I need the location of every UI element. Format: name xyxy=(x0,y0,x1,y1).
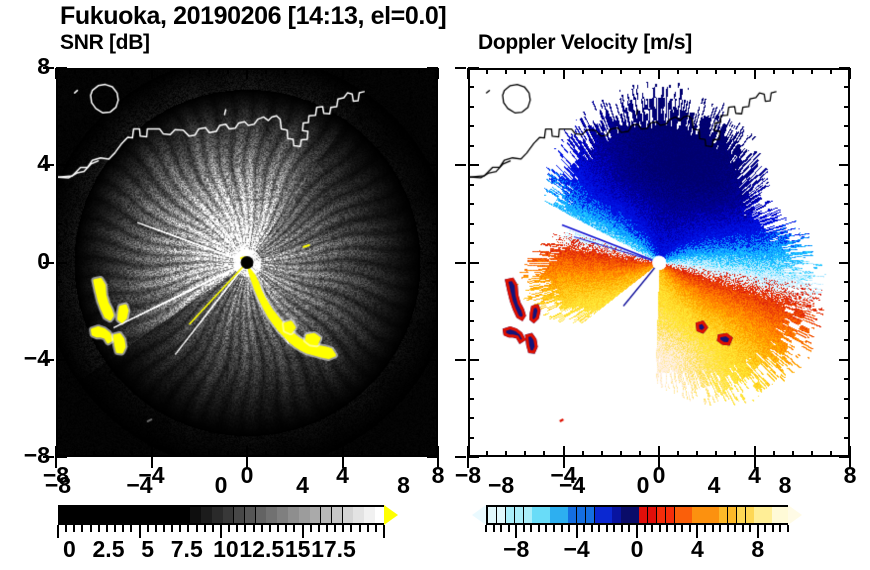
y-tick-left xyxy=(56,359,67,361)
y-tick-right xyxy=(839,456,850,458)
y-tick-left xyxy=(56,378,62,380)
colorbar-minor-tick xyxy=(155,525,157,532)
colorbar-minor-tick xyxy=(666,525,668,532)
y-tick-left xyxy=(56,437,62,439)
x-tick-bottom xyxy=(322,451,324,457)
colorbar-minor-tick xyxy=(334,525,336,532)
colorbar-minor-tick xyxy=(621,525,623,532)
colorbar-minor-tick xyxy=(742,525,744,532)
colorbar-cell xyxy=(288,507,299,523)
y-tick-right xyxy=(432,398,438,400)
x-tick-bottom xyxy=(734,451,736,457)
y-tick-left-outer xyxy=(455,359,466,361)
colorbar-gradient xyxy=(58,505,384,525)
colorbar-minor-tick xyxy=(659,525,661,532)
y-tick-left xyxy=(468,106,474,108)
x-tick-top xyxy=(227,68,229,74)
colorbar-top-label: −4 xyxy=(105,472,175,499)
colorbar-top-label: 8 xyxy=(369,472,439,499)
colorbar-cell xyxy=(321,507,332,523)
colorbar-minor-tick xyxy=(779,525,781,532)
y-tick-left xyxy=(468,223,474,225)
colorbar-cell xyxy=(353,507,364,523)
y-tick-right xyxy=(844,320,850,322)
x-tick-top xyxy=(131,68,133,74)
x-tick-top xyxy=(399,68,401,74)
colorbar-minor-tick xyxy=(163,525,165,532)
y-tick-left-outer xyxy=(455,164,466,166)
colorbar-minor-tick xyxy=(90,525,92,532)
x-tick-top xyxy=(639,68,641,74)
colorbar-top-label: −8 xyxy=(23,472,93,499)
x-tick-top xyxy=(170,68,172,74)
x-tick-top xyxy=(151,68,153,79)
x-tick-top xyxy=(284,68,286,74)
colorbar-minor-tick xyxy=(485,525,487,532)
colorbar-extend-left xyxy=(472,505,486,525)
colorbar-minor-tick xyxy=(65,525,67,532)
colorbar-minor-tick xyxy=(764,525,766,532)
y-tick-left xyxy=(56,262,67,264)
colorbar-minor-tick xyxy=(253,525,255,532)
doppler-colorbar: −8−4048−8−4048 xyxy=(472,505,802,525)
y-tick-left-outer xyxy=(455,456,466,458)
colorbar-minor-tick xyxy=(772,525,774,532)
y-tick-left xyxy=(468,437,474,439)
y-tick-right xyxy=(427,164,438,166)
x-tick-top xyxy=(849,68,851,79)
colorbar-minor-tick xyxy=(98,525,100,532)
y-tick-left xyxy=(56,164,67,166)
y-tick-right xyxy=(432,378,438,380)
colorbar-cell xyxy=(245,507,256,523)
x-tick-bottom xyxy=(74,451,76,457)
y-tick-right xyxy=(432,184,438,186)
colorbar-minor-tick xyxy=(568,525,570,532)
x-tick-bottom xyxy=(342,446,344,457)
x-tick-bottom xyxy=(284,451,286,457)
y-tick-left xyxy=(468,320,474,322)
colorbar-minor-tick xyxy=(122,525,124,532)
y-tick-left xyxy=(468,398,474,400)
x-tick-bottom xyxy=(170,451,172,457)
x-tick-bottom xyxy=(93,451,95,457)
y-tick-right xyxy=(432,125,438,127)
colorbar-minor-tick xyxy=(359,525,361,532)
x-tick-top xyxy=(505,68,507,74)
colorbar-cell xyxy=(212,507,223,523)
x-tick-bottom xyxy=(754,446,756,457)
x-tick-top xyxy=(658,68,660,79)
colorbar-minor-tick xyxy=(644,525,646,532)
colorbar-cell xyxy=(93,507,104,523)
x-tick-bottom xyxy=(639,451,641,457)
colorbar-minor-tick xyxy=(106,525,108,532)
y-tick-left xyxy=(468,281,474,283)
y-tick-right xyxy=(844,106,850,108)
y-tick-left xyxy=(56,398,62,400)
x-tick-bottom xyxy=(112,451,114,457)
colorbar-minor-tick xyxy=(375,525,377,532)
colorbar-cell xyxy=(201,507,212,523)
colorbar-top-label: −8 xyxy=(466,472,536,499)
colorbar-cell xyxy=(147,507,158,523)
x-tick-bottom xyxy=(380,451,382,457)
colorbar-cell xyxy=(180,507,191,523)
colorbar-minor-tick xyxy=(367,525,369,532)
colorbar-minor-tick xyxy=(651,525,653,532)
colorbar-minor-tick xyxy=(674,525,676,532)
x-tick-top xyxy=(265,68,267,74)
x-tick-bottom xyxy=(524,451,526,457)
y-tick-right xyxy=(844,437,850,439)
x-tick-top xyxy=(524,68,526,74)
colorbar-top-label: −4 xyxy=(537,472,607,499)
x-tick-top xyxy=(246,68,248,79)
x-tick-top xyxy=(696,68,698,74)
colorbar-minor-tick xyxy=(228,525,230,532)
x-tick-bottom xyxy=(246,446,248,457)
x-tick-bottom xyxy=(189,451,191,457)
colorbar-cell xyxy=(60,507,71,523)
x-tick-bottom xyxy=(582,451,584,457)
doppler-data-layer xyxy=(470,70,848,455)
colorbar-minor-tick xyxy=(712,525,714,532)
colorbar-cell xyxy=(82,507,93,523)
colorbar-minor-tick xyxy=(236,525,238,532)
y-tick-left xyxy=(56,417,62,419)
x-tick-top xyxy=(322,68,324,74)
y-axis-label: −4 xyxy=(4,345,50,372)
y-tick-right xyxy=(844,242,850,244)
colorbar-cell xyxy=(125,507,136,523)
y-tick-right xyxy=(844,281,850,283)
x-tick-bottom xyxy=(543,451,545,457)
colorbar-minor-tick xyxy=(342,525,344,532)
y-tick-right xyxy=(844,145,850,147)
colorbar-minor-tick xyxy=(606,525,608,532)
x-tick-top xyxy=(543,68,545,74)
y-tick-left xyxy=(468,417,474,419)
colorbar-cell xyxy=(256,507,267,523)
y-tick-left-outer xyxy=(455,67,466,69)
colorbar-cell xyxy=(364,507,375,523)
snr-map-panel xyxy=(56,68,438,457)
colorbar-cell xyxy=(71,507,82,523)
colorbar-cell xyxy=(103,507,114,523)
colorbar-minor-tick xyxy=(73,525,75,532)
y-tick-left xyxy=(56,281,62,283)
y-tick-left xyxy=(56,242,62,244)
y-tick-left xyxy=(468,339,474,341)
colorbar-minor-tick xyxy=(591,525,593,532)
colorbar-top-label: 8 xyxy=(750,472,820,499)
y-tick-right xyxy=(844,184,850,186)
colorbar-minor-tick xyxy=(285,525,287,532)
x-tick-top xyxy=(601,68,603,74)
x-tick-bottom xyxy=(620,451,622,457)
x-tick-top xyxy=(74,68,76,74)
y-tick-left xyxy=(56,86,62,88)
y-tick-right xyxy=(432,145,438,147)
colorbar-minor-tick xyxy=(114,525,116,532)
y-tick-left xyxy=(468,67,479,69)
x-tick-bottom xyxy=(265,451,267,457)
x-tick-bottom xyxy=(399,451,401,457)
colorbar-minor-tick xyxy=(310,525,312,532)
colorbar-minor-tick xyxy=(147,525,149,532)
y-tick-left xyxy=(468,86,474,88)
x-tick-bottom xyxy=(811,451,813,457)
x-tick-top xyxy=(830,68,832,74)
y-tick-left xyxy=(56,125,62,127)
x-tick-top xyxy=(582,68,584,74)
y-tick-right xyxy=(839,67,850,69)
colorbar-minor-tick xyxy=(787,525,789,532)
y-tick-right xyxy=(844,300,850,302)
colorbar-minor-tick xyxy=(500,525,502,532)
y-tick-right xyxy=(844,417,850,419)
page-title: Fukuoka, 20190206 [14:13, el=0.0] xyxy=(60,2,446,31)
y-tick-left xyxy=(56,184,62,186)
colorbar-cell xyxy=(310,507,321,523)
y-axis-label: 0 xyxy=(4,248,50,275)
colorbar-cell xyxy=(136,507,147,523)
y-tick-left xyxy=(468,164,479,166)
colorbar-bottom-label: 8 xyxy=(723,536,793,563)
colorbar-minor-tick xyxy=(719,525,721,532)
x-tick-bottom xyxy=(601,451,603,457)
y-tick-left xyxy=(468,262,479,264)
x-tick-bottom xyxy=(227,451,229,457)
colorbar-minor-tick xyxy=(598,525,600,532)
colorbar-minor-tick xyxy=(196,525,198,532)
y-tick-right xyxy=(839,262,850,264)
colorbar-minor-tick xyxy=(269,525,271,532)
x-tick-top xyxy=(563,68,565,79)
colorbar-minor-tick xyxy=(613,525,615,532)
x-tick-top xyxy=(754,68,756,79)
y-tick-right xyxy=(432,320,438,322)
y-tick-right xyxy=(427,262,438,264)
colorbar-top-label: 4 xyxy=(268,472,338,499)
y-tick-left xyxy=(468,184,474,186)
y-tick-left xyxy=(468,300,474,302)
colorbar-cell xyxy=(169,507,180,523)
y-axis-label: −8 xyxy=(4,442,50,469)
colorbar-cell xyxy=(190,507,201,523)
x-tick-bottom xyxy=(303,451,305,457)
y-tick-right xyxy=(844,223,850,225)
y-tick-right xyxy=(844,125,850,127)
x-tick-top xyxy=(773,68,775,74)
colorbar-minor-tick xyxy=(277,525,279,532)
y-tick-right xyxy=(427,456,438,458)
y-axis-label: 8 xyxy=(4,53,50,80)
x-tick-top xyxy=(792,68,794,74)
y-tick-left xyxy=(468,145,474,147)
y-tick-right xyxy=(432,437,438,439)
colorbar-minor-tick xyxy=(293,525,295,532)
y-axis-label: 4 xyxy=(4,150,50,177)
colorbar-minor-tick xyxy=(212,525,214,532)
doppler-map-panel xyxy=(468,68,850,457)
x-tick-top xyxy=(189,68,191,74)
doppler-panel-title: Doppler Velocity [m/s] xyxy=(478,31,692,55)
y-tick-right xyxy=(432,339,438,341)
y-tick-left-outer xyxy=(455,262,466,264)
colorbar-cell xyxy=(332,507,343,523)
x-tick-top xyxy=(418,68,420,74)
y-tick-right xyxy=(844,339,850,341)
colorbar-top-label: 0 xyxy=(186,472,256,499)
colorbar-gradient xyxy=(486,505,788,525)
colorbar-cell xyxy=(266,507,277,523)
y-tick-left xyxy=(468,242,474,244)
colorbar-minor-tick xyxy=(628,525,630,532)
colorbar-minor-tick xyxy=(318,525,320,532)
x-tick-top xyxy=(112,68,114,74)
x-axis-label: 8 xyxy=(820,462,870,489)
colorbar-minor-tick xyxy=(204,525,206,532)
y-tick-right xyxy=(432,86,438,88)
y-tick-right xyxy=(432,223,438,225)
y-tick-right xyxy=(844,203,850,205)
y-tick-left xyxy=(56,300,62,302)
x-tick-bottom xyxy=(677,451,679,457)
colorbar-minor-tick xyxy=(545,525,547,532)
y-tick-left xyxy=(56,67,67,69)
colorbar-cell xyxy=(277,507,288,523)
x-tick-top xyxy=(361,68,363,74)
y-tick-right xyxy=(432,203,438,205)
y-tick-right xyxy=(432,242,438,244)
y-tick-left xyxy=(468,378,474,380)
x-tick-bottom xyxy=(151,446,153,457)
colorbar-cell xyxy=(223,507,234,523)
y-tick-right xyxy=(432,106,438,108)
colorbar-minor-tick xyxy=(187,525,189,532)
y-tick-left xyxy=(56,456,67,458)
y-tick-right xyxy=(839,164,850,166)
y-tick-left xyxy=(56,339,62,341)
x-tick-bottom xyxy=(563,446,565,457)
colorbar-top-label: 4 xyxy=(679,472,749,499)
colorbar-extend-right xyxy=(384,505,398,525)
y-tick-left xyxy=(56,223,62,225)
colorbar-minor-tick xyxy=(538,525,540,532)
colorbar-minor-tick xyxy=(261,525,263,532)
colorbar-minor-tick xyxy=(689,525,691,532)
x-tick-bottom xyxy=(505,451,507,457)
snr-panel-title: SNR [dB] xyxy=(60,31,150,55)
x-tick-top xyxy=(55,68,57,79)
snr-colorbar: −8−404802.557.51012.51517.5 xyxy=(58,505,398,525)
y-tick-right xyxy=(427,359,438,361)
x-tick-bottom xyxy=(773,451,775,457)
x-tick-bottom xyxy=(715,451,717,457)
y-tick-left xyxy=(468,203,474,205)
colorbar-top-label: 0 xyxy=(608,472,678,499)
colorbar-minor-tick xyxy=(326,525,328,532)
x-tick-top xyxy=(437,68,439,79)
x-tick-top xyxy=(303,68,305,74)
colorbar-minor-tick xyxy=(704,525,706,532)
x-tick-top xyxy=(620,68,622,74)
colorbar-cell xyxy=(114,507,125,523)
colorbar-cell xyxy=(299,507,310,523)
x-tick-bottom xyxy=(486,451,488,457)
y-tick-left xyxy=(56,106,62,108)
colorbar-cell xyxy=(343,507,354,523)
colorbar-minor-tick xyxy=(350,525,352,532)
colorbar-minor-tick xyxy=(179,525,181,532)
colorbar-minor-tick xyxy=(508,525,510,532)
snr-data-layer xyxy=(58,70,436,455)
colorbar-major-tick xyxy=(383,525,385,538)
x-tick-top xyxy=(93,68,95,74)
x-tick-top xyxy=(486,68,488,74)
y-tick-left xyxy=(56,145,62,147)
colorbar-minor-tick xyxy=(553,525,555,532)
y-tick-left xyxy=(56,320,62,322)
x-tick-top xyxy=(811,68,813,74)
colorbar-minor-tick xyxy=(523,525,525,532)
x-tick-top xyxy=(208,68,210,74)
x-tick-bottom xyxy=(830,451,832,457)
y-tick-right xyxy=(844,398,850,400)
x-tick-top xyxy=(677,68,679,74)
x-tick-bottom xyxy=(208,451,210,457)
colorbar-minor-tick xyxy=(493,525,495,532)
colorbar-minor-tick xyxy=(734,525,736,532)
y-tick-left xyxy=(56,203,62,205)
y-tick-right xyxy=(844,86,850,88)
colorbar-minor-tick xyxy=(749,525,751,532)
y-tick-left xyxy=(468,125,474,127)
colorbar-bottom-label: 17.5 xyxy=(298,536,368,563)
colorbar-minor-tick xyxy=(171,525,173,532)
x-tick-top xyxy=(734,68,736,74)
colorbar-minor-tick xyxy=(681,525,683,532)
x-tick-bottom xyxy=(792,451,794,457)
y-tick-right xyxy=(839,359,850,361)
x-tick-top xyxy=(715,68,717,74)
y-tick-right xyxy=(432,281,438,283)
colorbar-cell xyxy=(234,507,245,523)
x-tick-top xyxy=(342,68,344,79)
colorbar-minor-tick xyxy=(727,525,729,532)
x-tick-bottom xyxy=(696,451,698,457)
colorbar-extend-right xyxy=(788,505,802,525)
y-tick-left xyxy=(468,359,479,361)
colorbar-minor-tick xyxy=(561,525,563,532)
x-tick-bottom xyxy=(658,446,660,457)
x-tick-top xyxy=(380,68,382,74)
y-tick-right xyxy=(432,300,438,302)
x-tick-bottom xyxy=(418,451,420,457)
colorbar-minor-tick xyxy=(130,525,132,532)
colorbar-minor-tick xyxy=(530,525,532,532)
y-tick-right xyxy=(432,417,438,419)
colorbar-minor-tick xyxy=(81,525,83,532)
x-tick-top xyxy=(467,68,469,79)
x-tick-bottom xyxy=(361,451,363,457)
colorbar-cell xyxy=(158,507,169,523)
y-tick-right xyxy=(844,378,850,380)
y-tick-left xyxy=(468,456,479,458)
colorbar-minor-tick xyxy=(583,525,585,532)
